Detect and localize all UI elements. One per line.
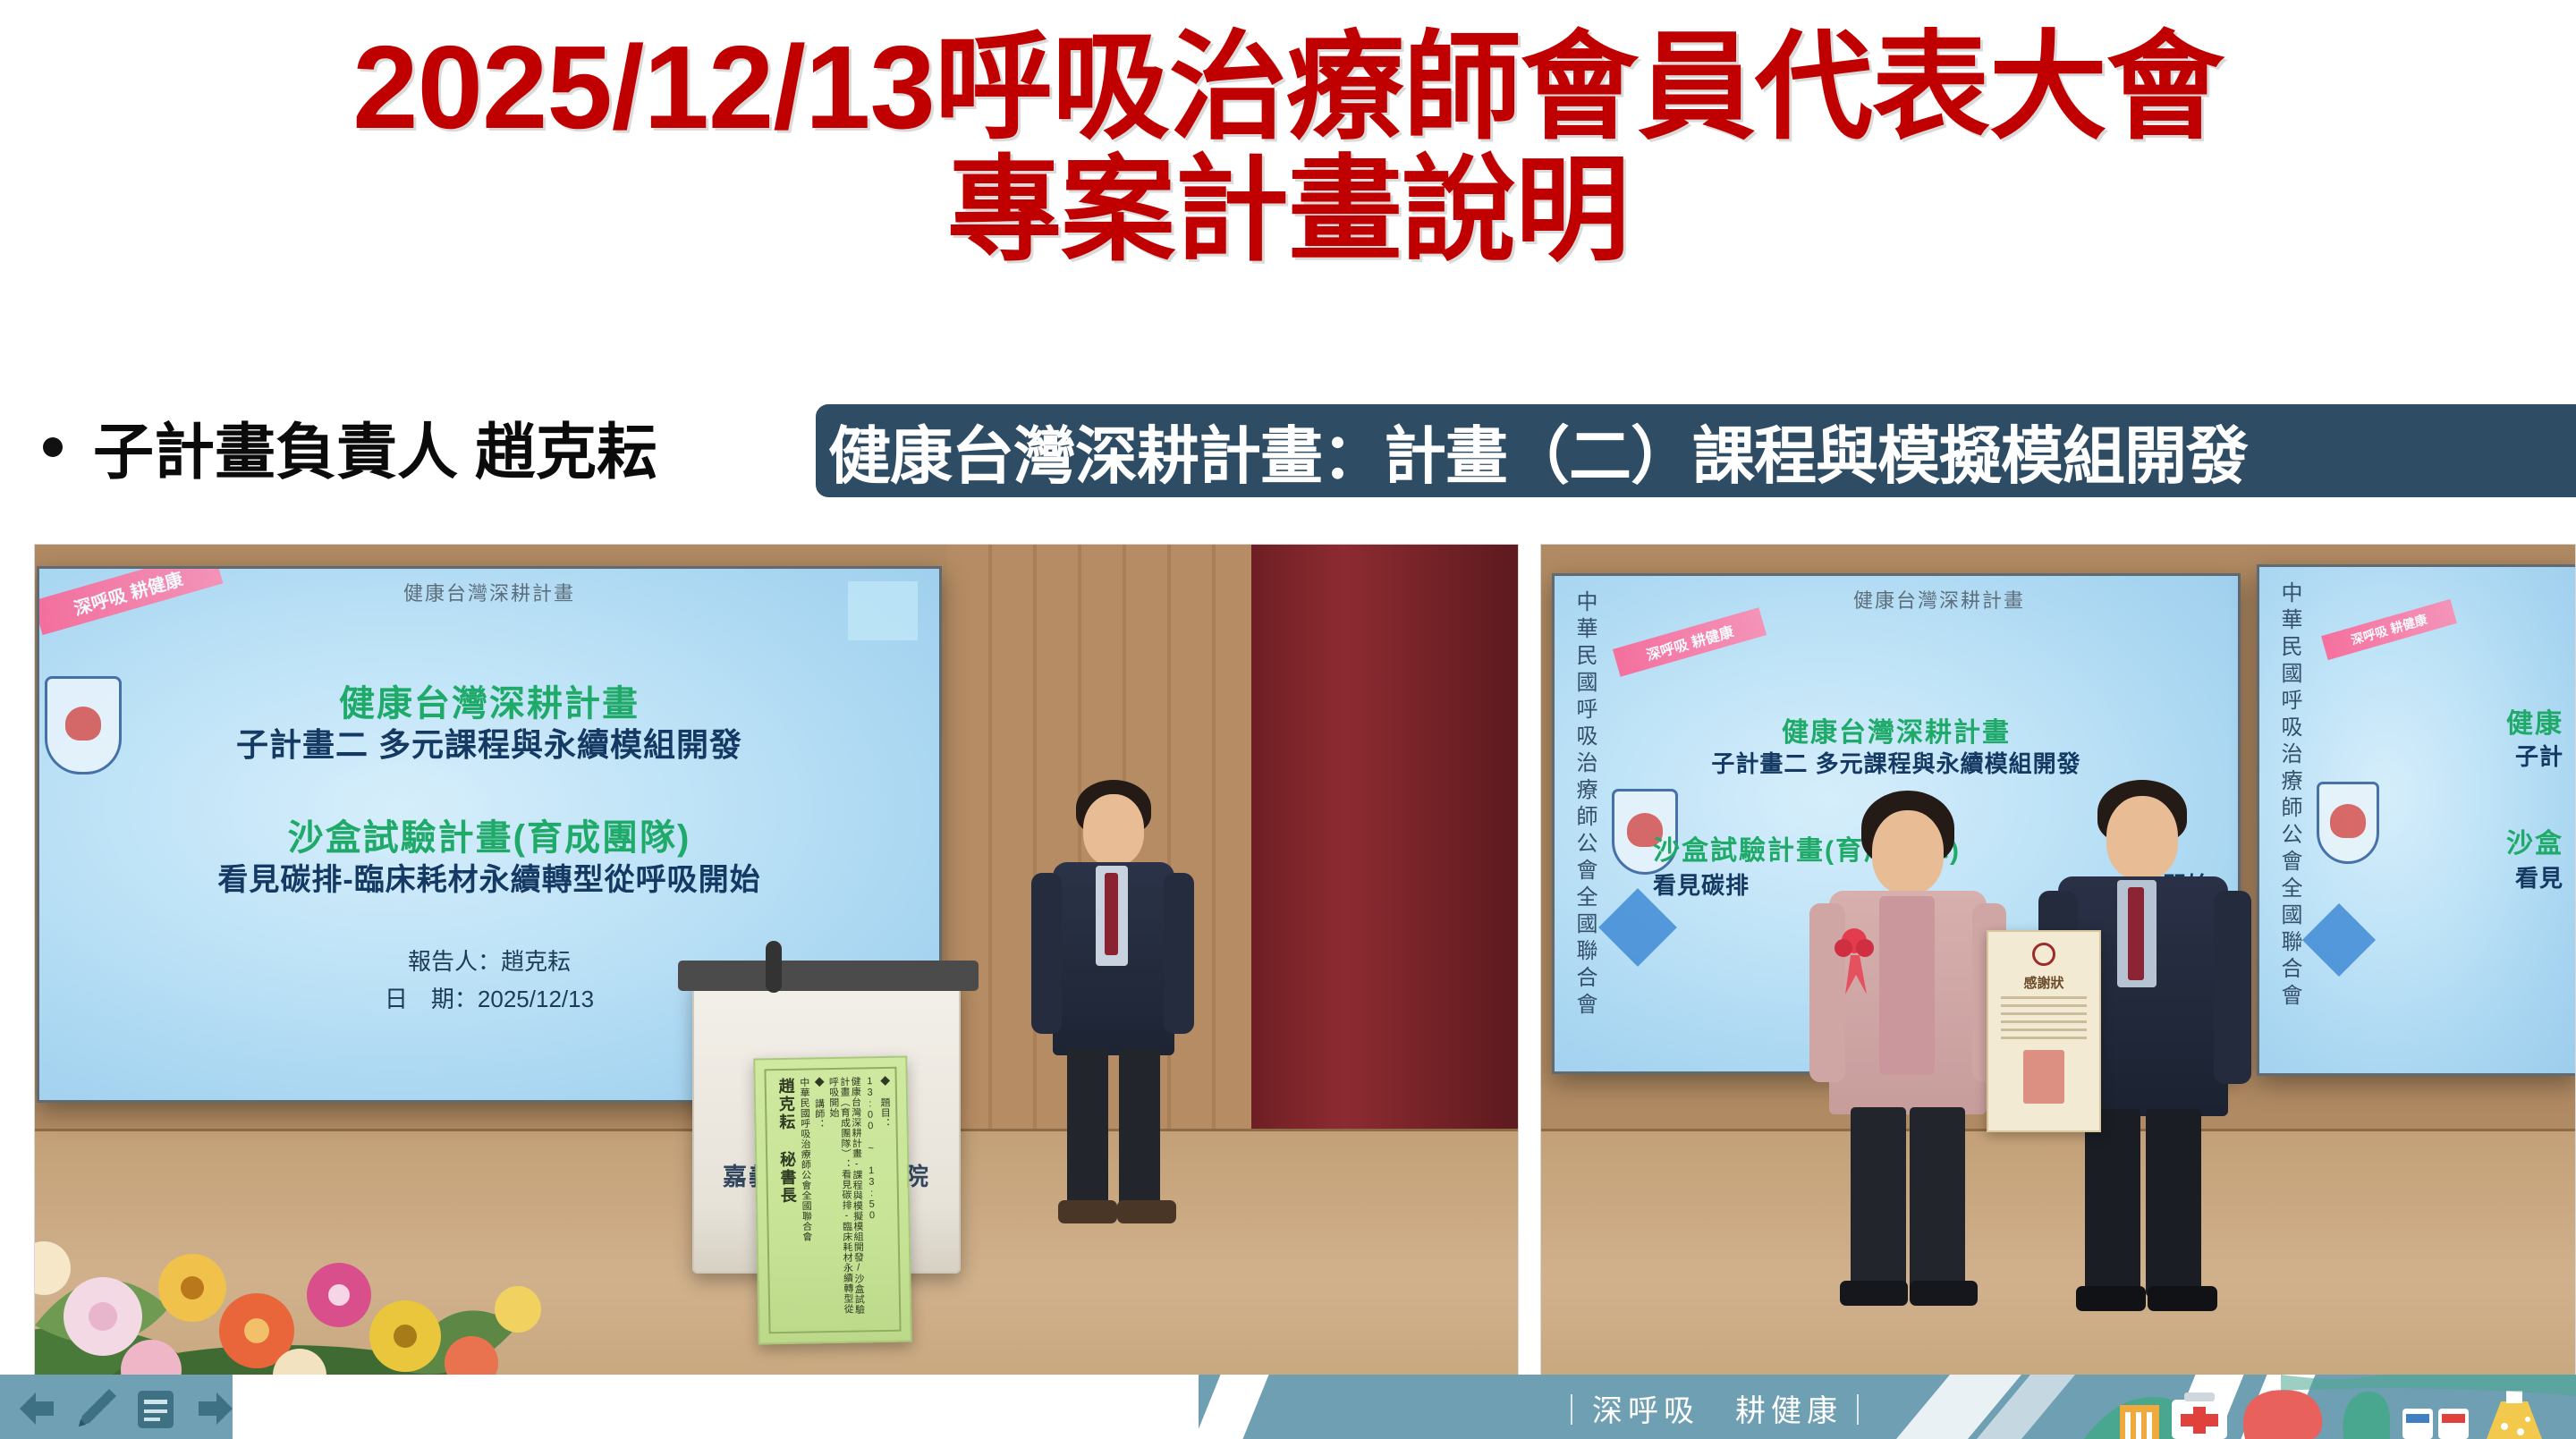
recipient-leg-left <box>1851 1107 1906 1291</box>
previous-slide-icon[interactable] <box>13 1384 63 1434</box>
person-shoe-right <box>1117 1200 1176 1223</box>
screen-b-vertical-org: 中華民國呼吸治療師公會全國聯合會 <box>2274 581 2305 1011</box>
screen-b-title-3: 沙盒 <box>2259 821 2576 860</box>
poster-speaker-name: 趙克耘 秘書長 <box>776 1078 799 1325</box>
screen-title-2: 子計畫二 多元課程與永續模組開發 <box>39 719 939 766</box>
poster-inner-frame: ◆ 題目： 13:00 ~ 13:50 健康台灣深耕計畫-課程與模擬模組開發/沙… <box>764 1067 901 1334</box>
person-necktie <box>1105 873 1118 955</box>
screen-b-decor-diamond <box>2302 903 2376 977</box>
certificate: 感謝狀 <box>1987 930 2101 1132</box>
page-title: 2025/12/13呼吸治療師會員代表大會 專案計畫說明 <box>0 25 2576 272</box>
screen-ribbon-right: 深呼吸 耕健康 <box>1613 607 1767 677</box>
presenter2-leg-left <box>2085 1109 2140 1297</box>
recipient-blouse <box>1879 896 1935 1075</box>
presenter2-head <box>2106 796 2178 880</box>
stage-curtain <box>1251 545 1518 1162</box>
recipient-head <box>1872 810 1944 894</box>
bottom-bar: ｜深呼吸 耕健康｜ <box>0 1375 2576 1439</box>
poster-time: 13:00 ~ 13:50 <box>864 1076 879 1323</box>
slide-canvas: 2025/12/13呼吸治療師會員代表大會 專案計畫說明 子計畫負責人 趙克耘 … <box>0 0 2576 1439</box>
certificate-title: 感謝狀 <box>1988 973 2099 992</box>
projection-screen-right-b: 中華民國呼吸治療師公會全國聯合會 深呼吸 耕健康 健康 子計 沙盒 看見 <box>2257 564 2576 1076</box>
screen-b-title-2: 子計 <box>2259 739 2576 772</box>
screen-decor-square <box>848 581 918 640</box>
presenter-person <box>1028 780 1198 1245</box>
podium-top-surface <box>678 961 979 991</box>
notes-icon[interactable] <box>131 1384 181 1434</box>
poster-topic-text: 健康台灣深耕計畫-課程與模擬模組開發/沙盒試驗計畫（育成團隊）：看見碳排-臨床耗… <box>827 1076 865 1324</box>
corsage-icon <box>1827 925 1885 998</box>
person-arm-right <box>1164 873 1194 1034</box>
photo-left: 健康台灣深耕計畫 深呼吸 耕健康 健康台灣深耕計畫 子計畫二 多元課程與永續模組… <box>34 544 1519 1380</box>
title-line-2: 專案計畫說明 <box>0 150 2576 272</box>
screen-b-title-1: 健康 <box>2259 701 2576 741</box>
presenter2-shoe-left <box>2076 1286 2146 1311</box>
person-leg-left <box>1067 1048 1108 1209</box>
project-banner-label: 健康台灣深耕計畫：計畫（二）課程與模擬模組開發 <box>828 406 2248 496</box>
bullet-item: 子計畫負責人 趙克耘 <box>43 402 657 491</box>
screen-header-right: 健康台灣深耕計畫 <box>1662 585 2216 614</box>
certificate-red-stamp-icon <box>2023 1050 2064 1104</box>
screen-title-4: 看見碳排-臨床耗材永續轉型從呼吸開始 <box>39 855 939 899</box>
next-slide-icon[interactable] <box>190 1384 240 1434</box>
pen-annotate-icon[interactable] <box>72 1384 122 1434</box>
screen-right-title-1: 健康台灣深耕計畫 <box>1555 710 2238 749</box>
presenter2-arm-right <box>2214 891 2251 1084</box>
presenter2-necktie <box>2128 887 2144 980</box>
session-poster: ◆ 題目： 13:00 ~ 13:50 健康台灣深耕計畫-課程與模擬模組開發/沙… <box>753 1056 912 1345</box>
footer-illustration-icon <box>1896 1375 2576 1439</box>
screen-b-title-4: 看見 <box>2259 860 2576 893</box>
poster-speaker-label: ◆ 講師： <box>813 1077 828 1324</box>
screen-b-ribbon: 深呼吸 耕健康 <box>2321 599 2457 660</box>
person-head <box>1083 794 1144 866</box>
slideshow-toolbar[interactable] <box>13 1384 240 1434</box>
recipient-shoe-right <box>1910 1281 1978 1306</box>
person-shoe-left <box>1058 1200 1117 1223</box>
project-banner: 健康台灣深耕計畫：計畫（二）課程與模擬模組開發 <box>816 404 2576 497</box>
certificate-seal-icon <box>2032 943 2055 966</box>
screen-right-title-2: 子計畫二 多元課程與永續模組開發 <box>1555 746 2238 779</box>
flower-arrangement <box>34 1102 589 1380</box>
presenter2-leg-right <box>2146 1109 2201 1297</box>
screen-vertical-org: 中華民國呼吸治療師公會全國聯合會 <box>1569 590 1600 1020</box>
photo-right: 中華民國呼吸治療師公會全國聯合會 深呼吸 耕健康 健康台灣深耕計畫 健康台灣深耕… <box>1540 544 2576 1380</box>
certificate-body-lines <box>2001 996 2087 1045</box>
screen-title-3: 沙盒試驗計畫(育成團隊) <box>39 808 939 860</box>
title-line-1: 2025/12/13呼吸治療師會員代表大會 <box>0 25 2576 150</box>
microphone-icon <box>766 941 782 993</box>
recipient-shoe-left <box>1840 1281 1908 1306</box>
poster-org: 中華民國呼吸治療師公會全國聯合會 <box>798 1077 813 1324</box>
recipient-leg-right <box>1910 1107 1965 1291</box>
person-arm-left <box>1031 873 1062 1034</box>
bullet-label: 子計畫負責人 趙克耘 <box>93 402 657 491</box>
footer-slogan: ｜深呼吸 耕健康｜ <box>1556 1386 1878 1430</box>
person-leg-right <box>1119 1048 1160 1209</box>
award-recipient-person <box>1809 791 2006 1327</box>
presenter2-shoe-right <box>2148 1286 2217 1311</box>
bullet-dot-icon <box>43 437 63 457</box>
poster-topic-label: ◆ 題目： <box>878 1076 894 1323</box>
